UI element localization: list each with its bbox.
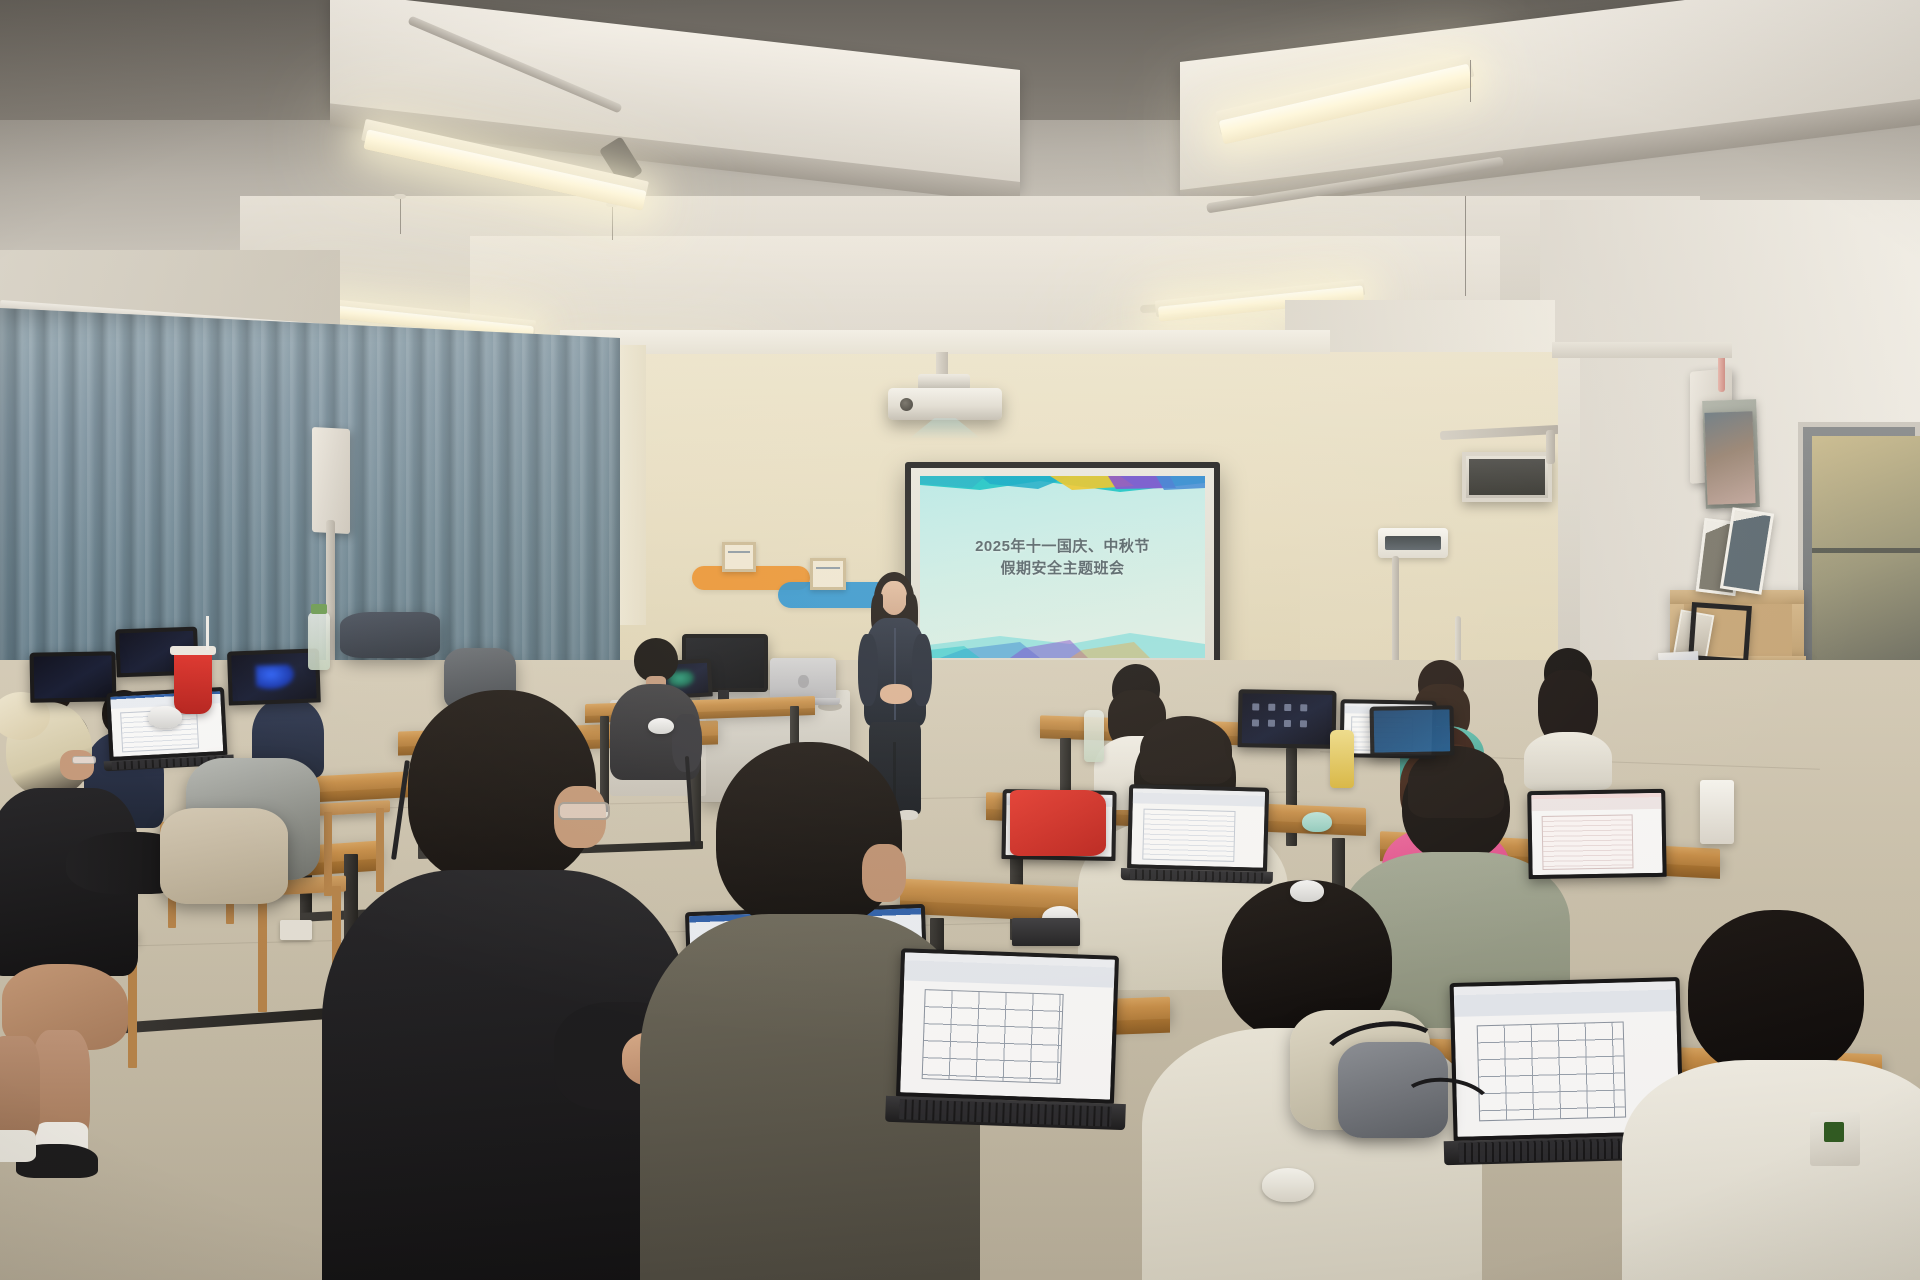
white-container (1700, 780, 1734, 844)
student-sock-2 (0, 1130, 36, 1162)
laptop-lid (227, 648, 321, 705)
cup-lid (170, 646, 216, 655)
exit-sign-icon (1824, 1122, 1844, 1142)
door-frame (1558, 350, 1580, 680)
floor-power-socket[interactable] (280, 920, 312, 940)
slide-title-line-2: 假期安全主题班会 (920, 558, 1205, 580)
laptop-right-back-1 (1237, 689, 1336, 755)
bottle-cap (311, 604, 327, 614)
wall-control-panel[interactable] (1378, 528, 1448, 558)
wall-air-conditioner (1462, 452, 1552, 502)
spreadsheet-document (1531, 793, 1662, 875)
laptop-lid (1127, 784, 1269, 872)
laptop-display (231, 653, 317, 702)
laptop-right-row (1527, 789, 1667, 887)
student-foreground-far-right (1622, 910, 1920, 1280)
laptop-lid (1238, 689, 1337, 749)
yellow-drink-bottle (1330, 730, 1354, 788)
table-form-document (900, 952, 1115, 1099)
dark-desktop-wallpaper (1242, 693, 1333, 745)
student-hair (1140, 716, 1232, 784)
student-head (1688, 910, 1864, 1078)
spreadsheet-rows (1542, 814, 1634, 870)
presenter-jacket-zip (894, 628, 896, 720)
laptop-display (1531, 793, 1662, 875)
student-torso-white (1622, 1060, 1920, 1280)
presenter-face (881, 581, 907, 615)
ribbon-toolbar (904, 952, 1115, 987)
stool-leg (258, 892, 267, 1012)
laptop-lid (1527, 789, 1667, 879)
beige-backpack (160, 808, 288, 904)
blue-desktop-wallpaper (1374, 709, 1451, 752)
bookshelf-right-panel (1790, 604, 1804, 660)
door-header (1552, 342, 1732, 358)
wall-mini-frame-left (722, 542, 756, 572)
dark-backpack-on-desk (340, 612, 440, 658)
laptop-left-far (30, 651, 117, 708)
presenter-arm-right (912, 634, 932, 706)
apple-logo-icon (798, 675, 809, 688)
presentation-slide: 2025年十一国庆、中秋节 假期安全主题班会 (920, 476, 1205, 658)
student-ear-neck (862, 844, 906, 902)
presenter-hands (880, 684, 912, 704)
ribbon-toolbar (1531, 793, 1661, 811)
red-tote-bag (1010, 790, 1106, 856)
laptop-display (1131, 788, 1265, 867)
laptop-mid-right (1127, 784, 1269, 880)
table-grid (1477, 1022, 1626, 1122)
crumpled-tissue (1262, 1168, 1314, 1202)
macbook-lid (770, 658, 836, 698)
table-grid (922, 989, 1064, 1083)
laptop-right-small (1370, 705, 1455, 762)
spreadsheet-document (1131, 788, 1265, 867)
desk-power-strip[interactable] (1012, 918, 1080, 946)
wall-speaker-left (312, 427, 350, 534)
red-drink-cup[interactable] (174, 650, 212, 714)
presenter-arm-left (858, 634, 878, 706)
green-water-bottle-2 (1084, 710, 1104, 762)
laptop-display (900, 952, 1115, 1099)
teal-mouse (1302, 812, 1332, 832)
light-wire-3 (1470, 60, 1471, 102)
computer-mouse (148, 706, 182, 728)
laptop-display (1242, 693, 1333, 745)
wall-pipe-right (1392, 556, 1399, 670)
student-face-profile (60, 750, 94, 780)
ribbon-toolbar (1133, 788, 1265, 807)
eyeglasses (72, 756, 96, 764)
spreadsheet-rows (1142, 808, 1236, 862)
green-water-bottle (308, 612, 330, 670)
wall-art-large (1704, 411, 1755, 505)
laptop-display (34, 655, 113, 698)
ac-pipe-vertical (1546, 430, 1555, 464)
laptop-left-row3 (227, 648, 321, 711)
desktop-wallpaper-blob (255, 664, 294, 689)
projector-lens (900, 398, 913, 411)
light-wire-4 (1465, 196, 1466, 296)
classroom-photo: 2025年十一国庆、中秋节 假期安全主题班会 (0, 0, 1920, 1280)
laptop-lid (896, 948, 1119, 1104)
dark-desktop-wallpaper (231, 653, 317, 702)
laptop-lid (1370, 705, 1455, 756)
slide-bottom-graphic (920, 624, 1205, 658)
light-wire-2 (612, 204, 613, 240)
slide-top-graphic (920, 476, 1205, 506)
eyeglasses[interactable] (558, 802, 610, 820)
window-mullion (1812, 548, 1920, 553)
wall-mini-frame-right (810, 558, 846, 590)
light-wire-1 (400, 196, 401, 234)
wall-cornice (560, 330, 1330, 354)
light-wire-cap-1 (394, 194, 406, 199)
speaker-cable-right (1718, 352, 1725, 392)
dark-desktop-wallpaper (34, 655, 113, 698)
computer-mouse-right (1290, 880, 1324, 902)
slide-title-line-1: 2025年十一国庆、中秋节 (920, 536, 1205, 558)
laptop-display (1374, 709, 1451, 752)
student-foreground-glasses (322, 690, 692, 1280)
laptop-lid (30, 651, 117, 702)
bookshelf-top (1670, 590, 1804, 604)
laptop-foreground-center[interactable] (895, 948, 1119, 1133)
cup-straw (206, 616, 209, 650)
